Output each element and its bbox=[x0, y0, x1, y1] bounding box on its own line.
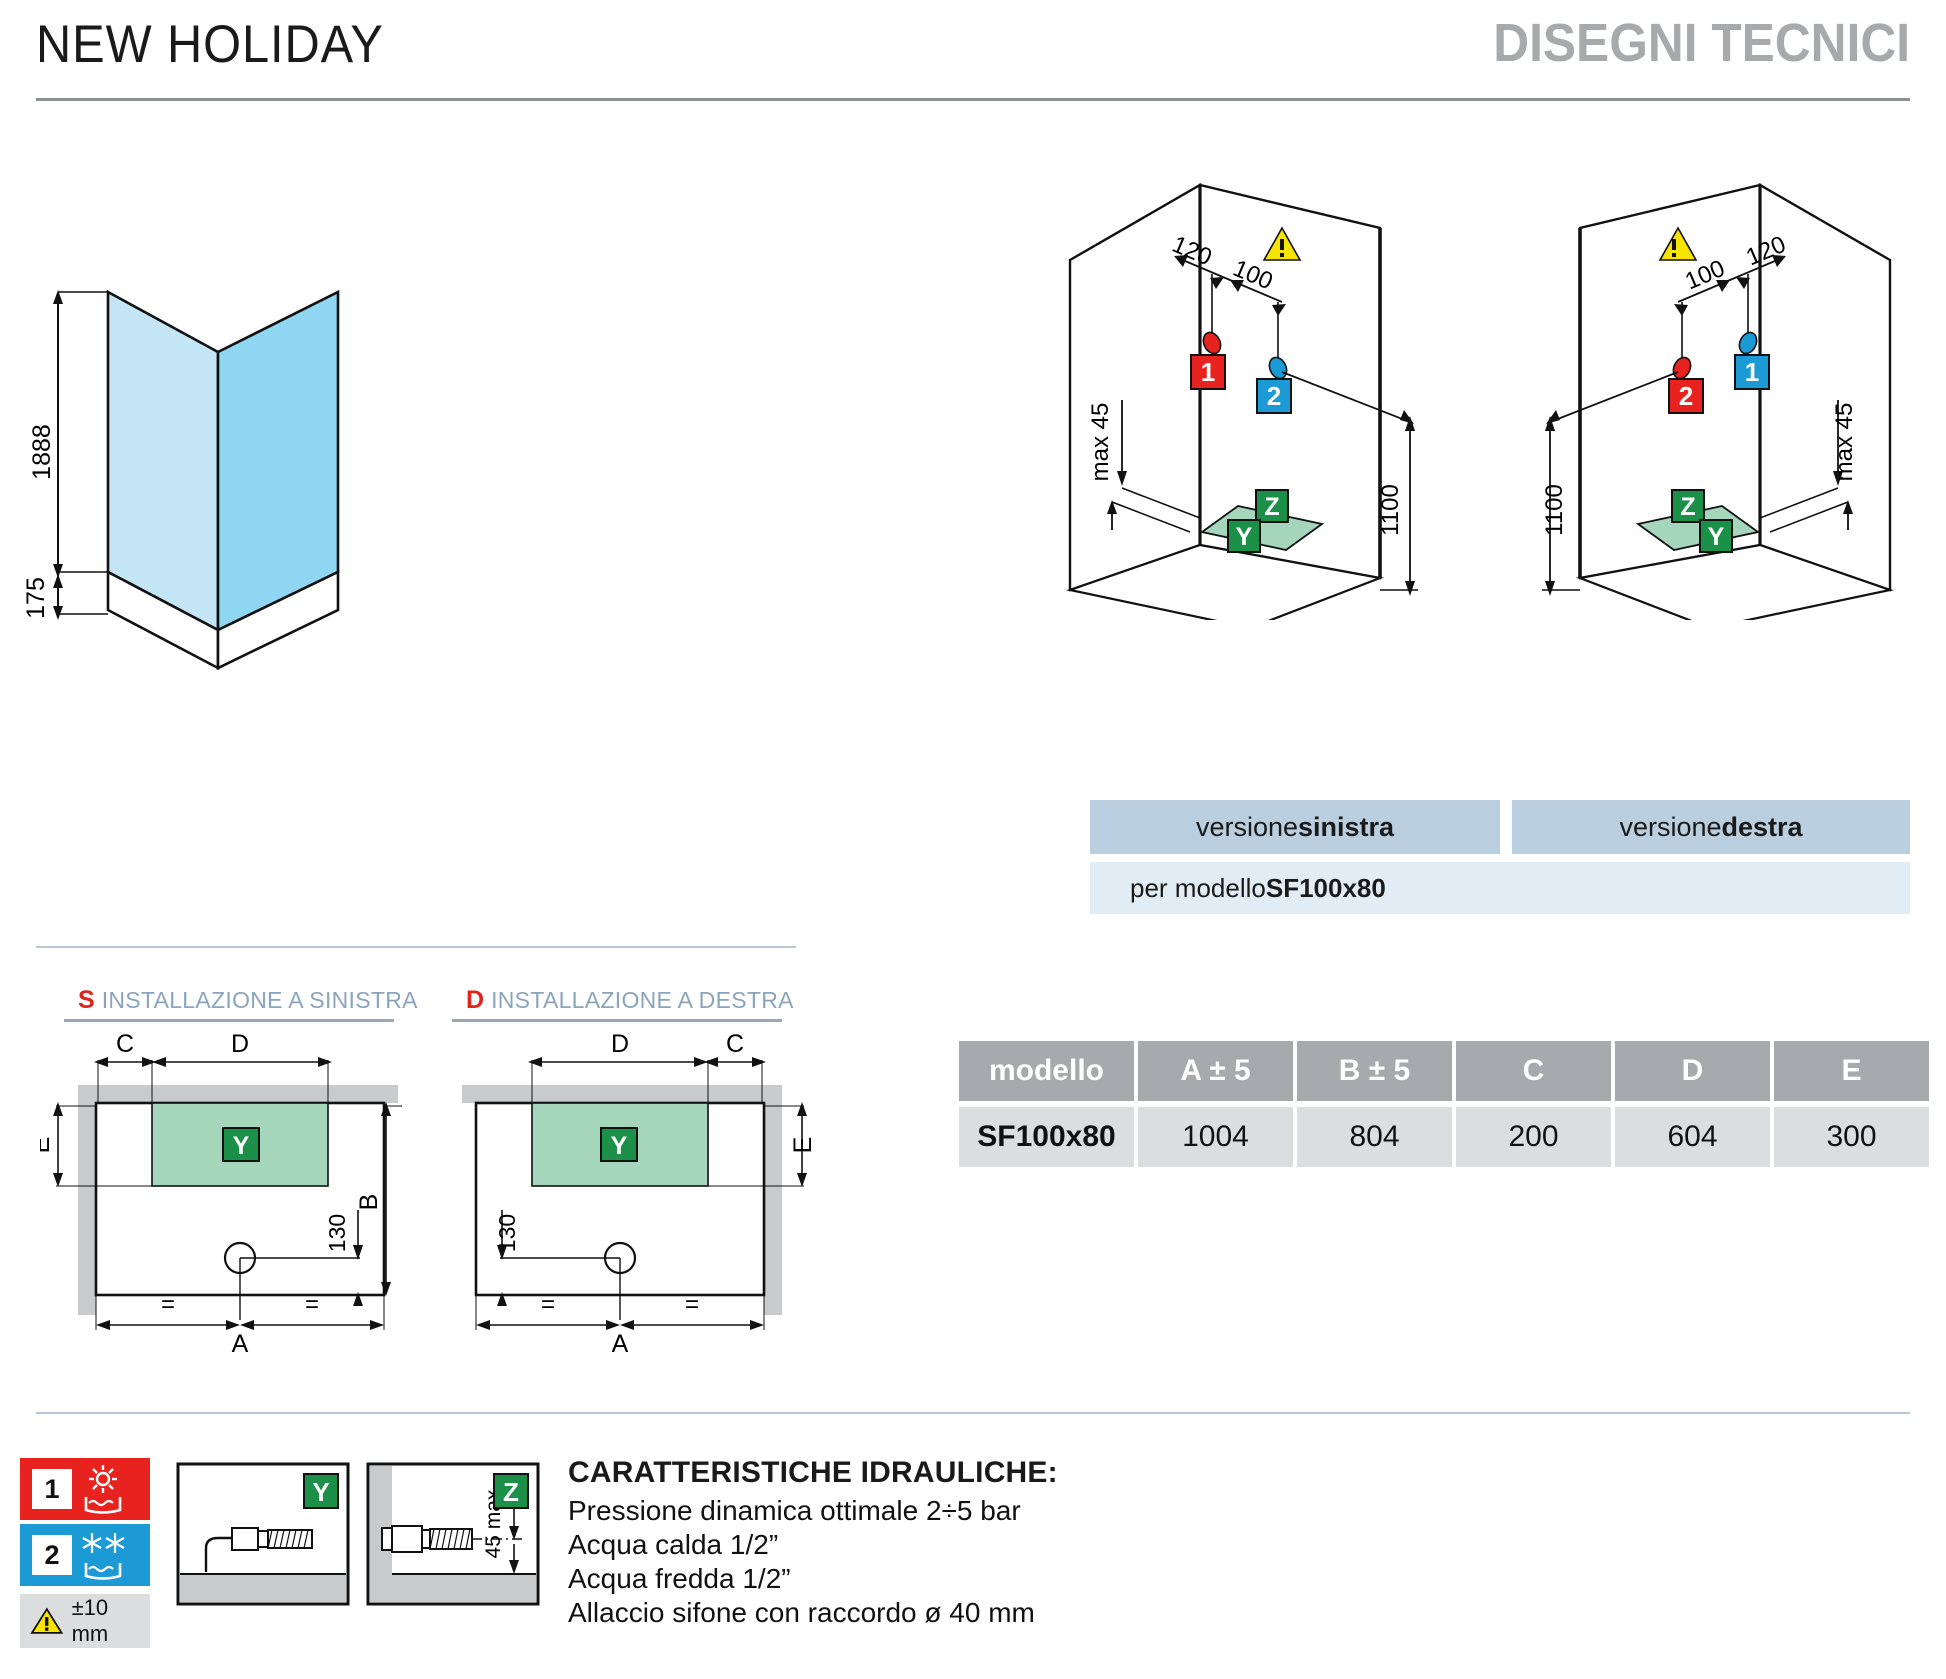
dim-d-label: D bbox=[231, 1030, 249, 1058]
dim-e-arrow-top bbox=[53, 1102, 63, 1116]
dim-c-arrow-l-r bbox=[752, 1057, 766, 1067]
dim-1100-label-r: 1100 bbox=[1541, 484, 1568, 536]
dim-e-label-r: E bbox=[789, 1137, 817, 1154]
version-right-prefix: versione bbox=[1619, 812, 1721, 843]
eq-mark-left-r: = bbox=[685, 1291, 699, 1318]
legend-hot-number: 1 bbox=[32, 1469, 72, 1509]
dimensions-table: modello A ± 5 B ± 5 C D E SF100x80 1004 … bbox=[955, 1035, 1933, 1173]
dim-a-label: A bbox=[232, 1330, 249, 1358]
z-fitting-end bbox=[382, 1528, 392, 1550]
detail-y-badge-label: Y bbox=[312, 1477, 329, 1507]
z-fitting-body bbox=[392, 1526, 422, 1552]
wall-left bbox=[78, 1085, 96, 1315]
dim-c-label-r: C bbox=[726, 1030, 744, 1058]
dim-e-label: E bbox=[40, 1137, 55, 1154]
sun-water-icon bbox=[72, 1463, 134, 1515]
badge-z-label: Z bbox=[1264, 493, 1279, 521]
install-right-underline bbox=[452, 1019, 782, 1022]
wall-right-r bbox=[764, 1085, 782, 1315]
eq-mark-right: = bbox=[305, 1291, 319, 1318]
version-right-bold: destra bbox=[1722, 812, 1803, 843]
dim-c-label: C bbox=[116, 1030, 134, 1058]
warn-bar-r bbox=[1672, 239, 1676, 250]
dim-1100-arrow-bottom-r bbox=[1545, 581, 1555, 596]
hydraulics-line-1: Pressione dinamica ottimale 2÷5 bar bbox=[568, 1494, 1268, 1528]
dim-d-arrow-r-r bbox=[528, 1057, 542, 1067]
td-d: 604 bbox=[1615, 1107, 1770, 1167]
fitting-collar bbox=[258, 1531, 268, 1547]
detail-y-floor bbox=[180, 1574, 346, 1602]
dim-a-arrow-left bbox=[96, 1320, 110, 1330]
detail-z-badge-label: Z bbox=[503, 1477, 519, 1507]
badge-hot-label-r: 1 bbox=[1745, 357, 1759, 387]
version-left-bold: sinistra bbox=[1298, 812, 1394, 843]
install-right-label: INSTALLAZIONE A DESTRA bbox=[491, 987, 794, 1013]
dim-c-arrow-left bbox=[94, 1057, 108, 1067]
detail-z-floor bbox=[370, 1574, 536, 1602]
detail-box-z: 45 max Z bbox=[366, 1462, 540, 1606]
section-divider-left bbox=[36, 946, 796, 948]
footer-divider bbox=[36, 1412, 1910, 1414]
dim-a-label-r: A bbox=[612, 1330, 629, 1358]
badge-cold-2: 2 bbox=[1257, 379, 1291, 413]
legend-hot-water: 1 bbox=[20, 1458, 150, 1520]
install-left-underline bbox=[64, 1019, 394, 1022]
dim-b-label: B bbox=[355, 1194, 383, 1211]
badge-y-label: Y bbox=[1236, 523, 1253, 551]
install-title-right: D INSTALLAZIONE A DESTRA bbox=[466, 986, 794, 1015]
dim-175-arrow-bottom bbox=[53, 606, 63, 620]
table-row: SF100x80 1004 804 200 604 300 bbox=[959, 1107, 1929, 1167]
fitting-body bbox=[232, 1528, 258, 1550]
dim-1100-arrow-bottom bbox=[1405, 581, 1415, 596]
badge-y-label-r: Y bbox=[1708, 523, 1725, 551]
dim-max45-label: max 45 bbox=[1087, 403, 1114, 482]
version-left-prefix: versione bbox=[1196, 812, 1298, 843]
install-left-label: INSTALLAZIONE A SINISTRA bbox=[102, 987, 418, 1013]
td-b: 804 bbox=[1297, 1107, 1452, 1167]
dim-a-arrow-mr-r bbox=[606, 1320, 620, 1330]
snowflake-water-icon bbox=[72, 1529, 134, 1581]
page-title: NEW HOLIDAY bbox=[36, 14, 384, 75]
td-modello: SF100x80 bbox=[959, 1107, 1134, 1167]
plan-view-right: Y 130 C D E = = A bbox=[440, 1030, 820, 1360]
th-d: D bbox=[1615, 1041, 1770, 1101]
legend-tolerance: ±10 mm bbox=[20, 1594, 150, 1648]
detail-z-badge: Z bbox=[494, 1474, 528, 1508]
dim-a-arrow-right bbox=[370, 1320, 384, 1330]
model-prefix: per modello bbox=[1130, 873, 1266, 904]
td-c: 200 bbox=[1456, 1107, 1611, 1167]
hydraulics-line-4: Allaccio sifone con raccordo ø 40 mm bbox=[568, 1596, 1268, 1630]
badge-cold-label: 2 bbox=[1267, 381, 1281, 411]
install-right-key: D bbox=[466, 986, 484, 1014]
warning-triangle-icon bbox=[30, 1606, 64, 1636]
hydraulics-line-2: Acqua calda 1/2” bbox=[568, 1528, 1268, 1562]
page-subtitle: DISEGNI TECNICI bbox=[1493, 12, 1910, 74]
install-title-left: S INSTALLAZIONE A SINISTRA bbox=[78, 986, 418, 1015]
badge-z-label-r: Z bbox=[1680, 493, 1695, 521]
glass-corner-elevation: 1888 175 bbox=[20, 200, 440, 720]
td-a: 1004 bbox=[1138, 1107, 1293, 1167]
dim-175-label: 175 bbox=[22, 577, 50, 619]
th-c: C bbox=[1456, 1041, 1611, 1101]
eq-mark-right-r: = bbox=[541, 1291, 555, 1318]
dim-a-arrow-rr-r bbox=[476, 1320, 490, 1330]
dim-e-arrow-t-r bbox=[797, 1102, 807, 1116]
th-e: E bbox=[1774, 1041, 1929, 1101]
badge-y-plan-label: Y bbox=[233, 1132, 250, 1160]
dim-130-label-r: 130 bbox=[494, 1214, 520, 1252]
dim-d-label-r: D bbox=[611, 1030, 629, 1058]
badge-hot-label: 1 bbox=[1201, 357, 1215, 387]
table-header-row: modello A ± 5 B ± 5 C D E bbox=[959, 1041, 1929, 1101]
badge-z: Z bbox=[1256, 490, 1288, 522]
warn-dot-r bbox=[1672, 253, 1676, 257]
hydraulics-block: CARATTERISTICHE IDRAULICHE: Pressione di… bbox=[568, 1456, 1268, 1631]
install-left-key: S bbox=[78, 986, 95, 1014]
dim-a-arrow-mid-l bbox=[226, 1320, 240, 1330]
version-banner-right: versione destra bbox=[1512, 800, 1910, 854]
dim-max45-label-r: max 45 bbox=[1831, 403, 1858, 482]
hydraulics-line-3: Acqua fredda 1/2” bbox=[568, 1562, 1268, 1596]
dim-e-arrow-b-r bbox=[797, 1173, 807, 1187]
model-name: SF100x80 bbox=[1266, 873, 1386, 904]
plan-view-left: Y 130 C D E B bbox=[40, 1030, 420, 1360]
detail-box-y: Y bbox=[176, 1462, 350, 1606]
technical-drawing-page: NEW HOLIDAY DISEGNI TECNICI 1888 175 bbox=[0, 0, 1946, 1679]
badge-hot-1: 1 bbox=[1191, 355, 1225, 389]
dim-d-arrow-left bbox=[152, 1057, 166, 1067]
hydraulics-title: CARATTERISTICHE IDRAULICHE: bbox=[568, 1456, 1268, 1490]
model-band: per modello SF100x80 bbox=[1090, 862, 1910, 914]
th-a: A ± 5 bbox=[1138, 1041, 1293, 1101]
badge-y-plan: Y bbox=[223, 1128, 259, 1161]
legend-tolerance-label: ±10 mm bbox=[72, 1595, 150, 1647]
iso-view-left-version: 120 100 1 2 1100 bbox=[1060, 150, 1480, 620]
th-b: B ± 5 bbox=[1297, 1041, 1452, 1101]
legend-cold-water: 2 bbox=[20, 1524, 150, 1586]
dim-d-arrow-l-r bbox=[694, 1057, 708, 1067]
badge-cold-label-r: 2 bbox=[1679, 381, 1693, 411]
dim-e-arrow-bottom bbox=[53, 1173, 63, 1187]
wall-top bbox=[78, 1085, 398, 1103]
version-banner-left: versione sinistra bbox=[1090, 800, 1500, 854]
th-modello: modello bbox=[959, 1041, 1134, 1101]
td-e: 300 bbox=[1774, 1107, 1929, 1167]
dim-175-arrow-top bbox=[53, 574, 63, 588]
page-header: NEW HOLIDAY DISEGNI TECNICI bbox=[0, 0, 1946, 110]
badge-y-plan-label-r: Y bbox=[611, 1132, 628, 1160]
dim-1100-label: 1100 bbox=[1377, 484, 1404, 536]
dim-130-label: 130 bbox=[324, 1214, 350, 1252]
iso-view-right-version: 100 120 1 2 1100 max 45 Z Y bbox=[1480, 150, 1900, 620]
z-fitting-collar bbox=[422, 1530, 430, 1548]
badge-y: Y bbox=[1228, 520, 1260, 552]
header-divider bbox=[36, 98, 1910, 101]
dim-a-arrow-l-r bbox=[750, 1320, 764, 1330]
dim-1888-label: 1888 bbox=[28, 424, 56, 480]
eq-mark-left: = bbox=[161, 1291, 175, 1318]
dim-a-arrow-ml-r bbox=[620, 1320, 634, 1330]
legend-cold-number: 2 bbox=[32, 1535, 72, 1575]
wall-top-r bbox=[462, 1085, 782, 1103]
detail-y-badge: Y bbox=[304, 1474, 338, 1508]
dim-a-arrow-mid-r bbox=[240, 1320, 254, 1330]
dim-d-arrow-right bbox=[318, 1057, 332, 1067]
